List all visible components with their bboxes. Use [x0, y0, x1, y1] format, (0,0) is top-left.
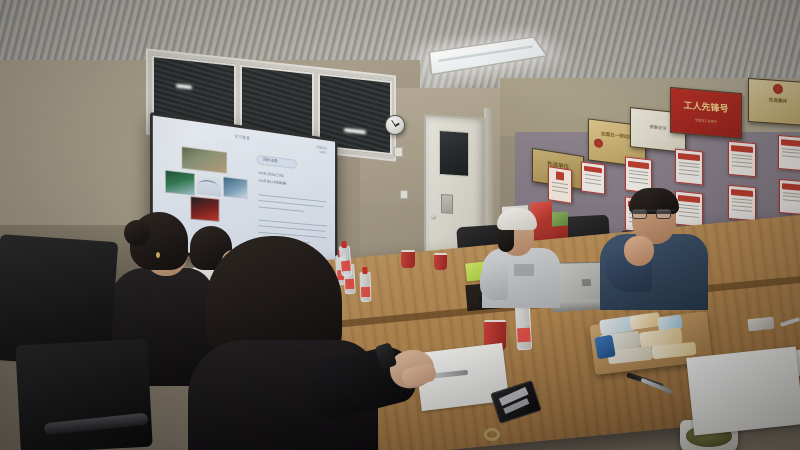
poster-header: [678, 153, 700, 162]
slide-body-line: [258, 225, 325, 232]
woman-white-cap: [478, 206, 564, 306]
plaque-subtext: 全国总工会授予: [671, 115, 741, 126]
notice-poster: [675, 149, 703, 186]
eyeglass-lens: [656, 209, 671, 219]
notice-poster: [728, 185, 756, 221]
notice-poster: [779, 179, 800, 215]
plaque-emblem: [594, 138, 603, 148]
poster-header: [782, 183, 800, 191]
notice-poster-featured: [548, 166, 572, 204]
person-arm: [480, 264, 508, 300]
light-switch[interactable]: [394, 147, 403, 157]
wall-clock: [385, 115, 405, 135]
white-paper-sheet[interactable]: [686, 346, 800, 435]
slide-section-pill: 历程与发展: [256, 154, 296, 169]
poster-header: [628, 161, 649, 170]
notice-poster: [778, 135, 800, 171]
hair-bun: [124, 220, 150, 246]
slide-diagram-curve: [198, 180, 217, 192]
plaque-emblem: [773, 83, 783, 94]
door-knob[interactable]: [431, 214, 436, 219]
plaque-worker-pioneer: 工人先锋号 全国总工会授予: [670, 87, 742, 139]
meeting-room-photo: 学习教育 中国中车 CRRC 历程与发展 1950年 江苏创立工作站 2000年…: [0, 0, 800, 450]
plaque-advanced-collective: 先进集体: [748, 78, 800, 126]
slide-bullet-2: 2000年 建立公司发展战略: [258, 179, 286, 186]
door-window: [439, 130, 469, 176]
plaque-text: 工人先锋号: [671, 97, 741, 116]
water-bottle[interactable]: [515, 306, 532, 351]
slide-photo-group: [181, 146, 227, 174]
eyeglass-lens: [632, 209, 647, 219]
ring-object: [484, 428, 500, 441]
poster-emblem: [556, 171, 564, 180]
light-switch[interactable]: [400, 190, 408, 199]
woman-foreground-back: [196, 236, 416, 450]
door-push-plate: [441, 194, 454, 214]
person-hand: [624, 236, 654, 266]
plaque-text: 先进集体: [749, 96, 800, 106]
slide-bullet-1: 1950年 江苏创立工作站: [258, 171, 284, 178]
man-glasses-blue-polo: [598, 186, 718, 306]
notice-poster: [728, 141, 756, 177]
slide-photo-worker: [165, 169, 195, 195]
slide-photo-factory: [223, 176, 247, 199]
snack-pack-blue[interactable]: [594, 335, 616, 360]
poster-header: [731, 145, 753, 153]
laptop-logo: [582, 279, 591, 286]
paper-cup[interactable]: [434, 253, 447, 270]
slide-header-title: 学习教育: [234, 134, 250, 142]
office-chair[interactable]: [15, 339, 152, 450]
slide-body-line: [258, 219, 327, 226]
poster-header: [781, 139, 800, 147]
sweatshirt-graphic: [514, 264, 534, 276]
slide-body-line: [258, 206, 303, 211]
slide-section-title: 历程与发展: [263, 158, 278, 164]
poster-header: [731, 189, 753, 197]
slide-organization-logo: 中国中车 CRRC: [317, 145, 327, 156]
poster-header: [584, 165, 603, 173]
white-beanie-cap: [497, 208, 537, 230]
earring: [156, 252, 160, 258]
